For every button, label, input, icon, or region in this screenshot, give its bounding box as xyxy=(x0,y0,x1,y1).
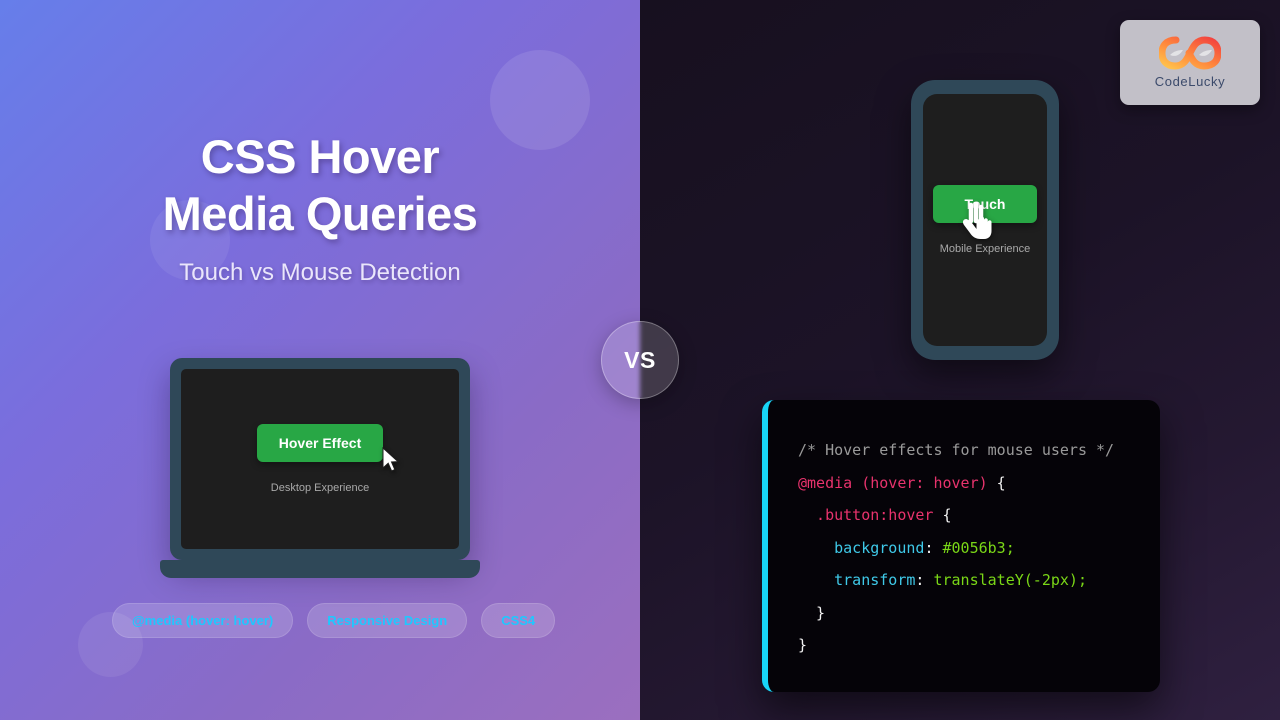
code-value-transform: translateY(-2px); xyxy=(933,571,1087,589)
code-property-background: background xyxy=(798,539,924,557)
code-selector: .button:hover xyxy=(798,506,933,524)
brand-logo-card: CodeLucky xyxy=(1120,20,1260,105)
page-title-line-2: Media Queries xyxy=(0,185,640,242)
brand-logo-text: CodeLucky xyxy=(1155,74,1225,89)
page-title: CSS Hover Media Queries xyxy=(0,128,640,243)
laptop-screen: Hover Effect Desktop Experience xyxy=(181,369,459,549)
tag-css4[interactable]: CSS4 xyxy=(481,603,555,638)
phone-screen: Touch Mobile Experience xyxy=(923,94,1047,346)
code-brace-close-2: } xyxy=(798,636,807,654)
page-subtitle: Touch vs Mouse Detection xyxy=(0,259,640,287)
code-at-rule: @media (hover: hover) xyxy=(798,474,988,492)
pointing-hand-icon xyxy=(959,202,995,242)
code-colon-2: : xyxy=(915,571,933,589)
code-line-comment: /* Hover effects for mouse users */ xyxy=(798,441,1114,459)
mouse-cursor-arrow-icon xyxy=(381,447,401,473)
code-colon-1: : xyxy=(924,539,942,557)
code-value-background: #0056b3; xyxy=(943,539,1015,557)
infinity-leaf-icon xyxy=(1159,36,1221,70)
hover-effect-button[interactable]: Hover Effect xyxy=(257,424,383,462)
tag-list: @media (hover: hover) Responsive Design … xyxy=(112,603,555,638)
code-brace-close-1: } xyxy=(798,604,825,622)
code-brace-open-1: { xyxy=(988,474,1006,492)
page-title-line-1: CSS Hover xyxy=(0,128,640,185)
laptop-mockup: Hover Effect Desktop Experience xyxy=(170,358,470,578)
desktop-caption: Desktop Experience xyxy=(271,482,369,494)
laptop-lid: Hover Effect Desktop Experience xyxy=(170,358,470,560)
phone-mockup: Touch Mobile Experience xyxy=(911,80,1059,360)
code-property-transform: transform xyxy=(798,571,915,589)
code-snippet-card: /* Hover effects for mouse users */ @med… xyxy=(762,400,1160,692)
slide-canvas: CSS Hover Media Queries Touch vs Mouse D… xyxy=(0,0,1280,720)
tag-responsive-design[interactable]: Responsive Design xyxy=(307,603,467,638)
vs-badge: VS xyxy=(601,321,679,399)
hero-heading-block: CSS Hover Media Queries Touch vs Mouse D… xyxy=(0,128,640,287)
laptop-base xyxy=(160,560,480,578)
code-brace-open-2: { xyxy=(933,506,951,524)
mobile-caption: Mobile Experience xyxy=(940,243,1031,255)
tag-media-hover[interactable]: @media (hover: hover) xyxy=(112,603,293,638)
phone-body: Touch Mobile Experience xyxy=(911,80,1059,360)
